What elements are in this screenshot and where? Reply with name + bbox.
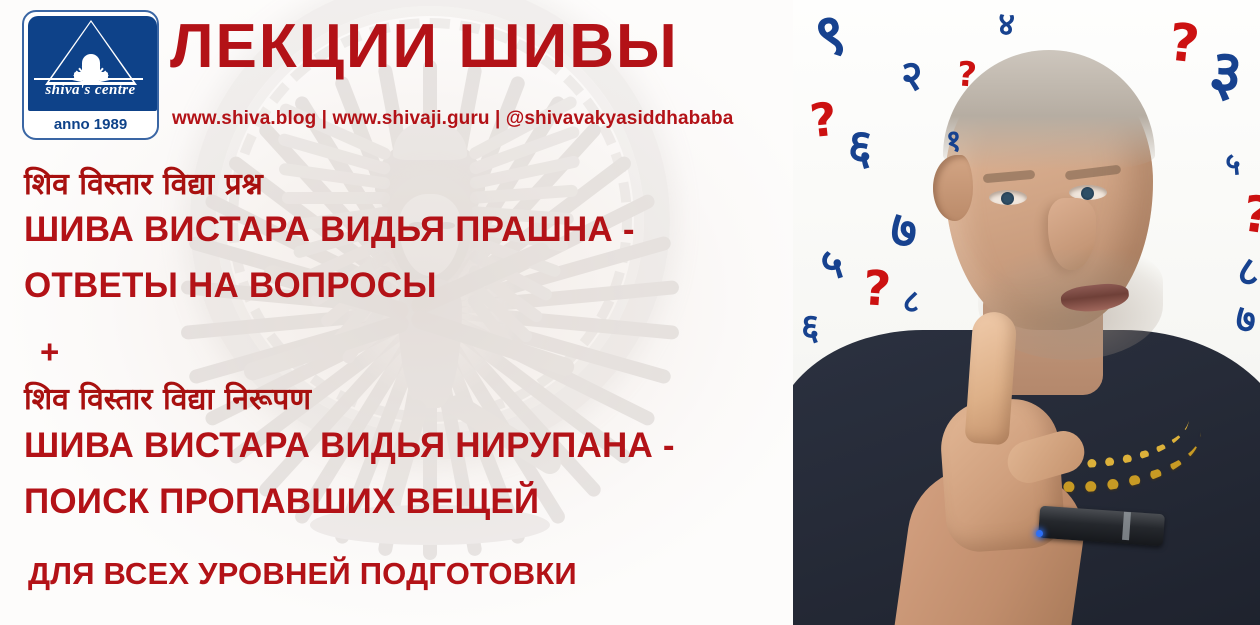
- devanagari-numeral-glyph: ७: [888, 204, 919, 256]
- speaker-photo-panel: ९४?३२??६१५७?५?८८६७: [793, 0, 1260, 625]
- speaker-eye-left: [989, 190, 1027, 205]
- page-title: ЛЕКЦИИ ШИВЫ: [170, 16, 679, 78]
- block1-cyrillic-line-1: ШИВА ВИСТАРА ВИДЬЯ ПРАШНА -: [24, 212, 635, 249]
- poster-root: shiva's centre anno 1989 ЛЕКЦИИ ШИВЫ www…: [0, 0, 1260, 625]
- devanagari-numeral-glyph: ५: [819, 242, 845, 286]
- logo-divider: [34, 78, 143, 80]
- devanagari-numeral-glyph: ७: [1234, 299, 1258, 339]
- brand-links: www.shiva.blog | www.shivaji.guru | @shi…: [172, 108, 733, 130]
- block2-devanagari-line: शिव विस्तार विद्या निरूपण: [24, 383, 311, 418]
- block1-devanagari-line: शिव विस्तार विद्या प्रश्न: [24, 168, 263, 203]
- speaker-ear: [933, 155, 973, 221]
- devanagari-numeral-glyph: ५: [1224, 149, 1242, 180]
- question-mark-glyph: ?: [1166, 17, 1201, 72]
- logo-anno-text: anno 1989: [24, 116, 157, 133]
- left-content-panel: shiva's centre anno 1989 ЛЕКЦИИ ШИВЫ www…: [0, 0, 793, 625]
- question-mark-glyph: ?: [861, 264, 892, 314]
- microphone-led-indicator: [1036, 530, 1043, 537]
- logo-name-text: shiva's centre: [24, 82, 157, 99]
- block2-cyrillic-line-1: ШИВА ВИСТАРА ВИДЬЯ НИРУПАНА -: [24, 428, 675, 465]
- devanagari-numeral-glyph: २: [899, 54, 924, 98]
- devanagari-numeral-glyph: १: [945, 126, 963, 157]
- separator-plus: +: [40, 335, 59, 368]
- devanagari-numeral-glyph: ६: [800, 309, 821, 346]
- block2-cyrillic-line-2: ПОИСК ПРОПАВШИХ ВЕЩЕЙ: [24, 484, 539, 521]
- speaker-pointing-index-finger: [964, 311, 1017, 446]
- nataraja-shiva-watermark-icon: [150, 0, 710, 625]
- block1-cyrillic-line-2: ОТВЕТЫ НА ВОПРОСЫ: [24, 268, 437, 305]
- question-mark-glyph: ?: [808, 96, 839, 145]
- devanagari-numeral-glyph: ८: [902, 284, 921, 317]
- watermark-hair-strand: [282, 192, 390, 204]
- footer-tagline: ДЛЯ ВСЕХ УРОВНЕЙ ПОДГОТОВКИ: [28, 556, 577, 592]
- shivas-centre-logo: shiva's centre anno 1989: [22, 10, 159, 140]
- devanagari-numeral-glyph: ४: [997, 7, 1016, 40]
- devanagari-numeral-glyph: ८: [1235, 251, 1260, 293]
- question-mark-glyph: ?: [956, 57, 978, 92]
